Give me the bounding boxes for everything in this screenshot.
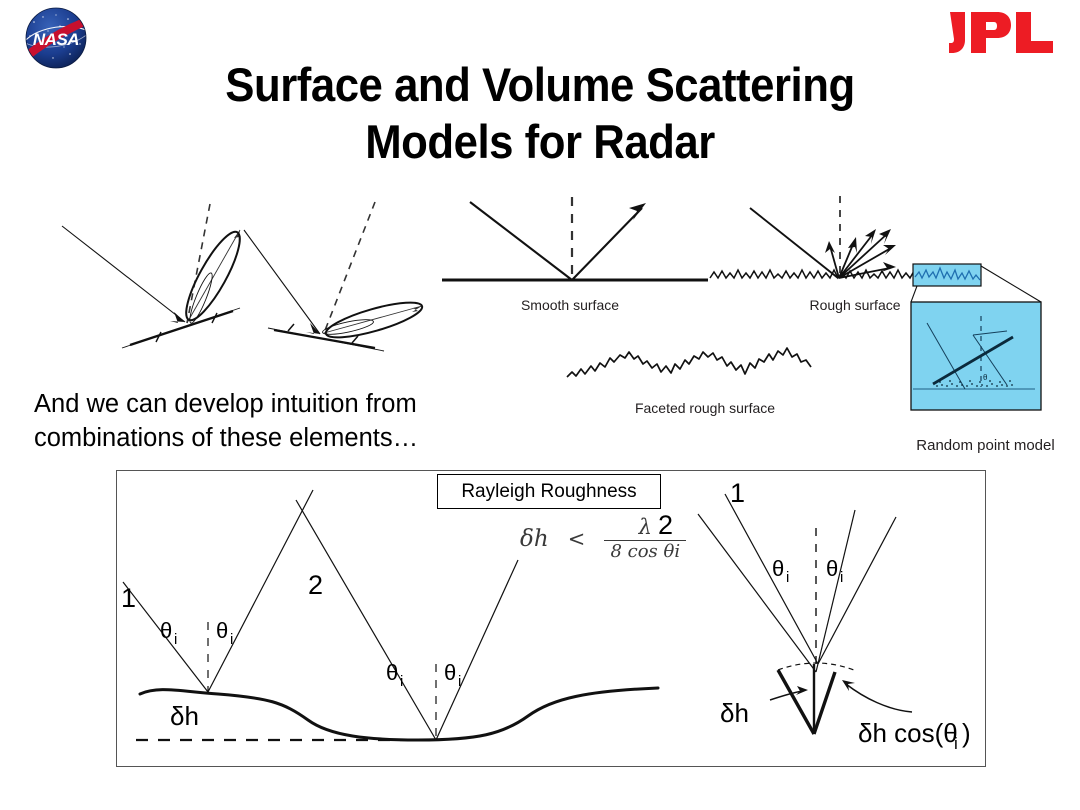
formula-denominator: 8 cos θi <box>604 540 686 562</box>
tilted-facet-diagram-2 <box>222 190 437 340</box>
right-theta-b-sub: i <box>840 569 843 586</box>
page-title-line-2: Models for Radar <box>122 113 959 170</box>
faceted-rough-surface-diagram <box>565 336 845 391</box>
nasa-logo: NASA <box>8 6 104 70</box>
page-title: Surface and Volume Scattering Models for… <box>122 56 959 171</box>
left-theta-c-sub: i <box>400 673 403 690</box>
faceted-rough-surface-caption: Faceted rough surface <box>600 400 810 416</box>
left-theta-b-sub: i <box>230 631 233 648</box>
intuition-paragraph: And we can develop intuition from combin… <box>34 388 504 456</box>
left-theta-b: θ <box>216 618 228 643</box>
left-ray2-label: 2 <box>308 570 323 600</box>
left-ray1-label: 1 <box>121 583 136 613</box>
smooth-surface-caption: Smooth surface <box>460 297 680 313</box>
path-difference-sub: i <box>954 734 958 753</box>
rayleigh-right-diagram: 1 2 θ i θ i δh δh cos(θ i ) <box>650 472 985 762</box>
rayleigh-roughness-label-box: Rayleigh Roughness <box>437 474 661 509</box>
nasa-wordmark: NASA <box>33 30 79 49</box>
formula-numerator: λ <box>604 516 686 540</box>
smooth-surface-diagram <box>430 190 720 290</box>
formula-relation: < <box>554 527 600 551</box>
left-theta-d: θ <box>444 660 456 685</box>
left-theta-a-sub: i <box>174 631 177 648</box>
page-title-line-1: Surface and Volume Scattering <box>122 56 959 113</box>
path-difference-close: ) <box>962 718 971 748</box>
formula-lhs: δh <box>520 526 549 552</box>
theta-label-random-point: θ <box>983 373 988 382</box>
right-ray1-label: 1 <box>730 478 745 508</box>
slide-canvas: NASA JPL Surface and Volume Scattering M… <box>0 0 1080 810</box>
formula-fraction: λ 8 cos θi <box>604 516 686 562</box>
random-point-model-diagram: θ <box>895 255 1080 440</box>
left-theta-c: θ <box>386 660 398 685</box>
random-point-model-caption: Random point model <box>898 437 1073 454</box>
path-difference-label: δh cos(θ <box>858 718 958 748</box>
intuition-line-1: And we can develop intuition from <box>34 388 504 422</box>
left-theta-a: θ <box>160 618 172 643</box>
rayleigh-formula: δh < λ 8 cos θi <box>520 516 686 562</box>
right-theta-a-sub: i <box>786 569 789 586</box>
rayleigh-roughness-label: Rayleigh Roughness <box>461 481 636 503</box>
jpl-wordmark: JPL <box>1004 53 1005 54</box>
right-theta-a: θ <box>772 556 784 581</box>
right-theta-b: θ <box>826 556 838 581</box>
jpl-logo: JPL <box>948 10 1060 56</box>
left-theta-d-sub: i <box>458 673 461 690</box>
intuition-line-2: combinations of these elements… <box>34 422 504 456</box>
left-delta-h-label: δh <box>170 701 199 731</box>
right-delta-h-label: δh <box>720 698 749 728</box>
